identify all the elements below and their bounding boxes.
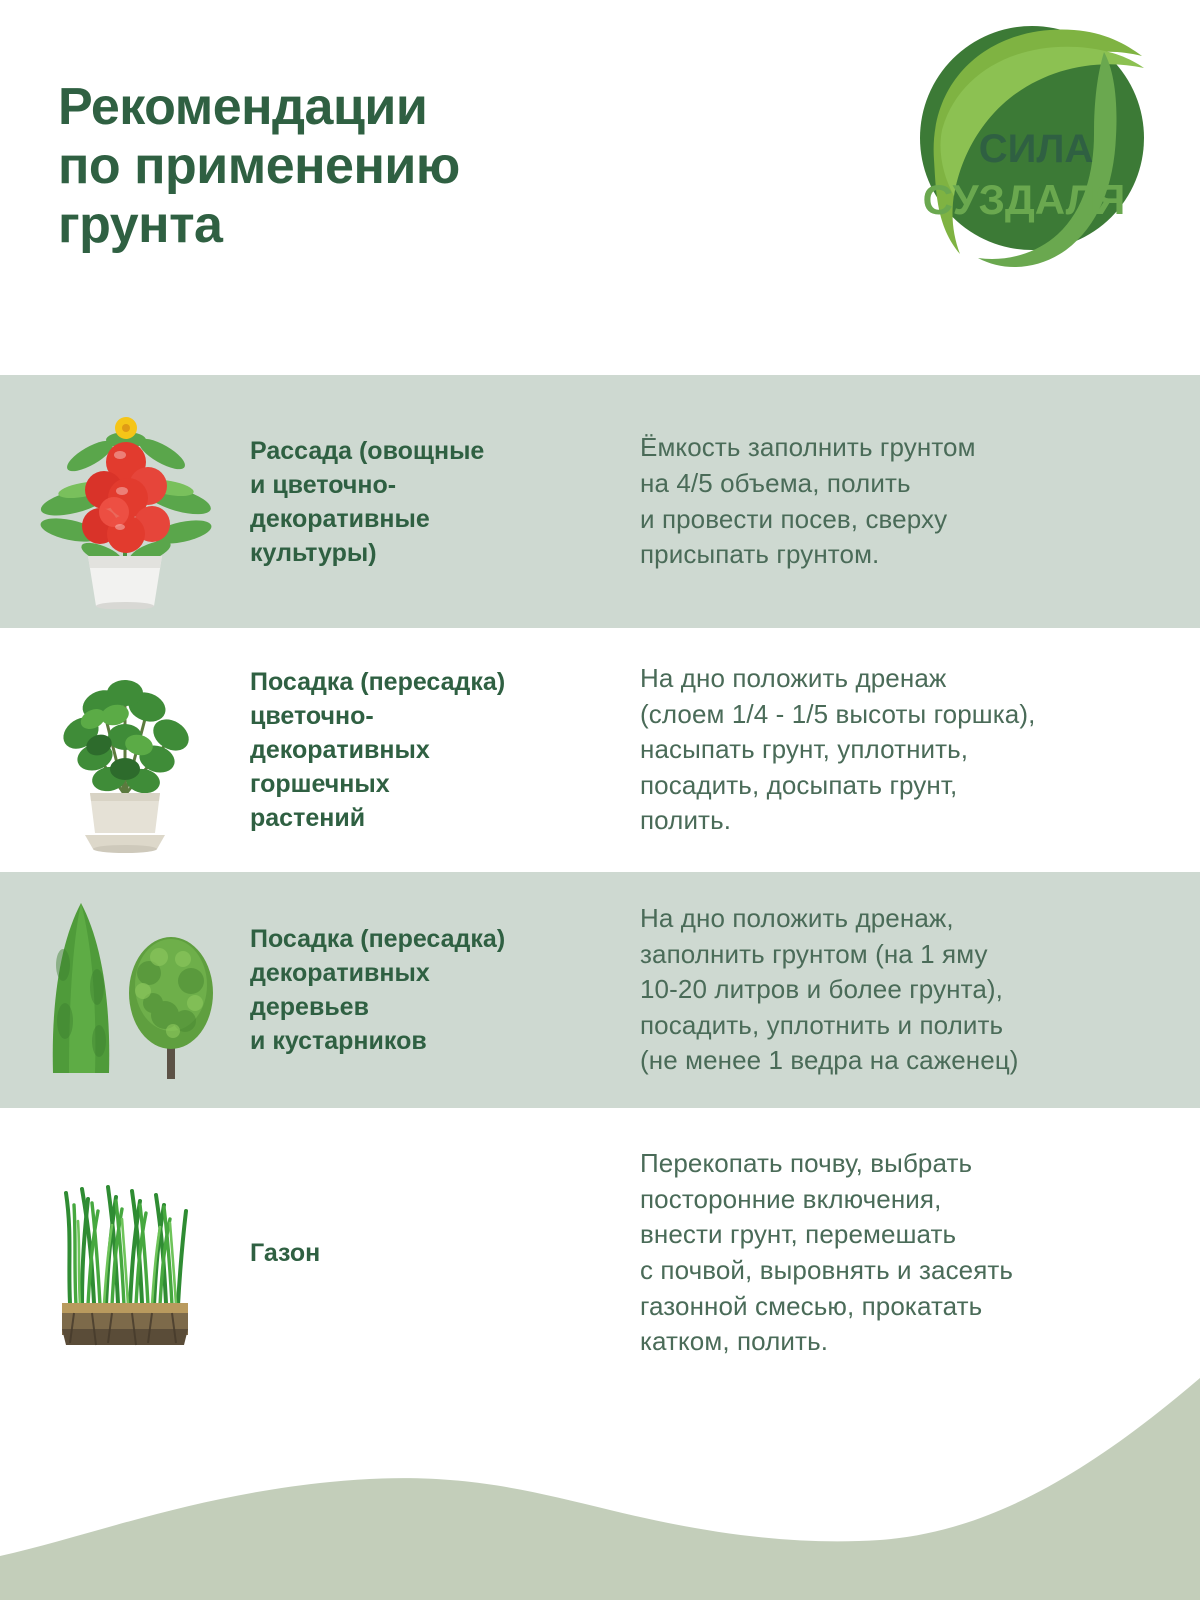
logo-line2: СУЗДАЛЯ bbox=[923, 176, 1126, 223]
row-description: Перекопать почву, выбрать посторонние вк… bbox=[640, 1146, 1160, 1360]
row-image-grass-turf bbox=[0, 1108, 250, 1398]
recommendations-table: Рассада (овощные и цветочно- декоративны… bbox=[0, 375, 1200, 1398]
brand-logo: СИЛА СУЗДАЛЯ bbox=[898, 10, 1166, 278]
row-image-trees-and-shrubs bbox=[0, 872, 250, 1108]
row-title: Посадка (пересадка) цветочно- декоративн… bbox=[250, 665, 640, 835]
row-description: Ёмкость заполнить грунтом на 4/5 объема,… bbox=[640, 430, 1160, 572]
page-header: Рекомендации по применению грунта СИЛА С… bbox=[0, 0, 1200, 375]
page-title: Рекомендации по применению грунта bbox=[58, 78, 678, 254]
table-row: Рассада (овощные и цветочно- декоративны… bbox=[0, 375, 1200, 628]
row-description: На дно положить дренаж (слоем 1/4 - 1/5 … bbox=[640, 661, 1160, 839]
table-row: Газон Перекопать почву, выбрать посторон… bbox=[0, 1108, 1200, 1398]
row-image-tomato-seedling bbox=[0, 375, 250, 628]
row-description: На дно положить дренаж, заполнить грунто… bbox=[640, 901, 1160, 1079]
row-title: Рассада (овощные и цветочно- декоративны… bbox=[250, 434, 640, 570]
table-row: Посадка (пересадка) цветочно- декоративн… bbox=[0, 628, 1200, 872]
row-title: Газон bbox=[250, 1236, 640, 1270]
logo-line1: СИЛА bbox=[979, 127, 1094, 171]
row-title: Посадка (пересадка) декоративных деревье… bbox=[250, 922, 640, 1058]
table-row: Посадка (пересадка) декоративных деревье… bbox=[0, 872, 1200, 1108]
row-image-potted-houseplant bbox=[0, 628, 250, 872]
